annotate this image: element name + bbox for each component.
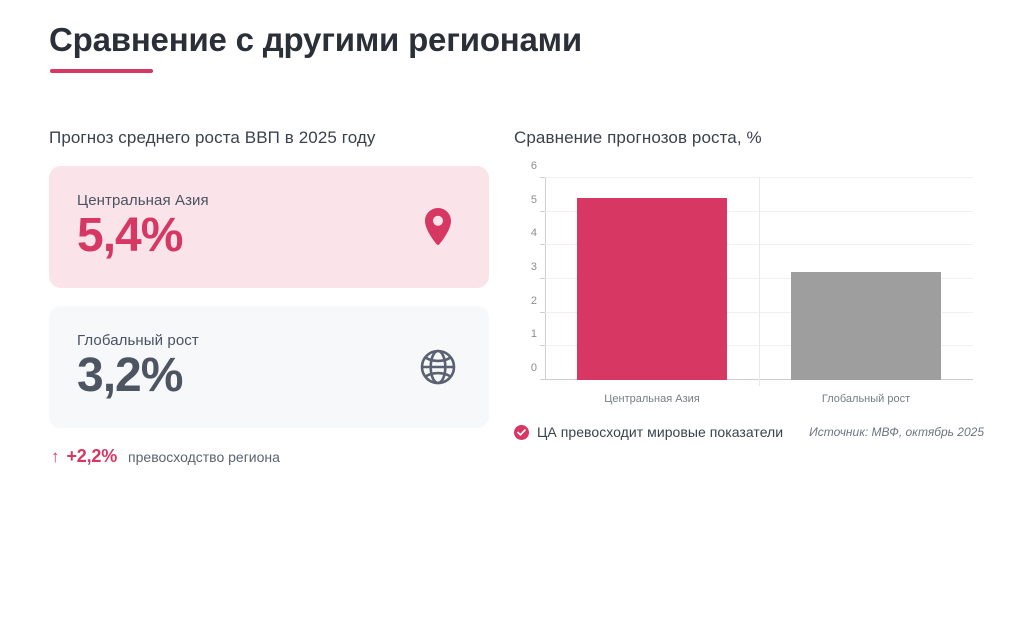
footnote-delta-value: +2,2% — [67, 446, 118, 467]
y-axis-tickmark — [540, 244, 545, 245]
y-axis-tick-label: 3 — [531, 261, 537, 273]
gdp-forecast-panel: Прогноз среднего роста ВВП в 2025 году Ц… — [49, 128, 489, 467]
check-circle-icon — [514, 425, 529, 440]
stat-card-global-growth[interactable]: Глобальный рост 3,2% — [49, 306, 489, 428]
y-axis-tick-label: 1 — [531, 328, 537, 340]
y-axis-tick-label: 5 — [531, 194, 537, 206]
y-axis-tickmark — [540, 278, 545, 279]
map-pin-icon — [417, 206, 459, 248]
legend-item-outperformance[interactable]: ЦА превосходит мировые показатели — [514, 424, 783, 440]
chart-plot-area: 0123456Центральная АзияГлобальный рост — [545, 178, 973, 380]
y-axis-tickmark — [540, 345, 545, 346]
stat-card-label: Центральная Азия — [77, 192, 461, 209]
y-axis-tick-label: 2 — [531, 295, 537, 307]
page-title: Сравнение с другими регионами — [49, 21, 582, 59]
category-divider — [759, 178, 760, 386]
y-axis-tick-label: 0 — [531, 362, 537, 374]
globe-icon — [417, 346, 459, 388]
y-axis-tickmark — [540, 312, 545, 313]
growth-comparison-panel: Сравнение прогнозов роста, % 0123456Цент… — [514, 128, 984, 440]
y-axis-tickmark — [540, 177, 545, 178]
chart-legend-row: ЦА превосходит мировые показатели Источн… — [514, 424, 984, 440]
y-axis-tickmark — [540, 211, 545, 212]
chart-bar[interactable] — [577, 198, 727, 380]
arrow-up-icon: ↑ — [51, 448, 60, 465]
y-axis-tickmark — [540, 379, 545, 380]
bar-chart: 0123456Центральная АзияГлобальный рост — [514, 166, 978, 412]
stat-card-value: 3,2% — [77, 351, 461, 401]
title-accent-underline — [50, 69, 153, 73]
x-axis-tick-label: Глобальный рост — [822, 393, 910, 405]
stat-card-value: 5,4% — [77, 211, 461, 261]
chart-bar[interactable] — [791, 272, 941, 380]
stat-card-label: Глобальный рост — [77, 332, 461, 349]
footnote-description: превосходство региона — [128, 449, 280, 465]
y-axis-line — [545, 178, 546, 380]
regional-outperformance-footnote: ↑ +2,2% превосходство региона — [49, 446, 489, 467]
chart-title: Сравнение прогнозов роста, % — [514, 128, 984, 148]
x-axis-tick-label: Центральная Азия — [604, 393, 699, 405]
legend-label: ЦА превосходит мировые показатели — [537, 424, 783, 440]
stat-card-central-asia[interactable]: Центральная Азия 5,4% — [49, 166, 489, 288]
y-axis-tick-label: 6 — [531, 160, 537, 172]
left-panel-heading: Прогноз среднего роста ВВП в 2025 году — [49, 128, 489, 148]
y-axis-tick-label: 4 — [531, 227, 537, 239]
chart-source-note: Источник: МВФ, октябрь 2025 — [809, 425, 984, 439]
